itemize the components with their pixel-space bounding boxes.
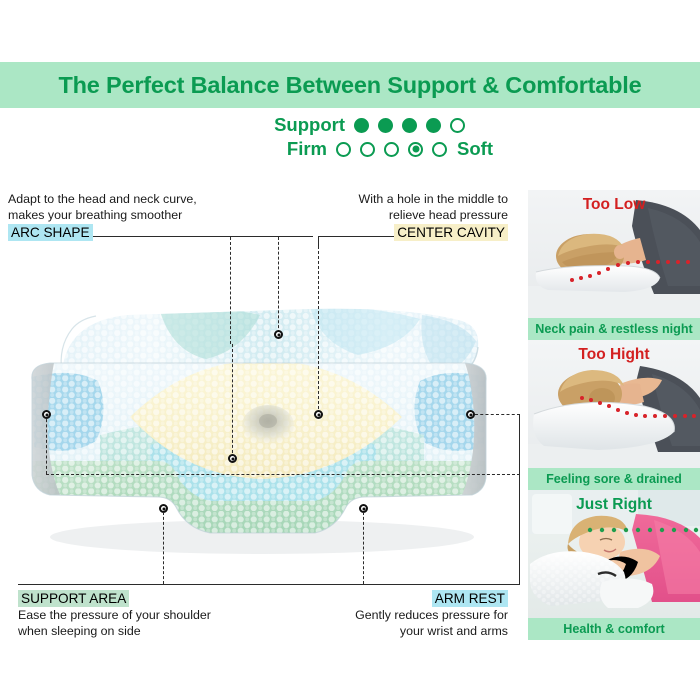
callout-dot-support-mid — [228, 454, 237, 463]
panel-heading-just-right: Just Right — [528, 496, 700, 514]
rating-dot — [450, 118, 465, 133]
rating-row-firmness: Firm Soft — [0, 137, 700, 161]
pillow-body — [20, 355, 510, 545]
annotation-arc-line1: Adapt to the head and neck curve, — [8, 192, 268, 208]
rating-dot — [378, 118, 393, 133]
annotation-arm-line1: Gently reduces pressure for — [318, 608, 508, 624]
leader-dash-arc-b — [278, 237, 279, 333]
leader-dash-footprint-left — [46, 414, 47, 474]
leader-dash-support-left — [163, 512, 164, 584]
annotation-support-tag: SUPPORT AREA — [18, 590, 129, 607]
leader-dash-cavity — [318, 246, 319, 414]
panel-caption-too-low: Neck pain & restless night — [528, 318, 700, 340]
leader-dash-armrest-h — [475, 414, 520, 415]
annotation-support-line1: Ease the pressure of your shoulder — [18, 608, 268, 624]
rating-dot — [354, 118, 369, 133]
rating-dot-selected — [408, 142, 423, 157]
annotation-arc-line2: makes your breathing smoother — [8, 208, 268, 224]
callout-dot-cavity — [314, 410, 323, 419]
rating-label-support: Support — [225, 114, 354, 136]
leader-dash-support-right — [363, 512, 364, 584]
leader-dash-support-top — [232, 344, 233, 458]
rating-row-support: Support — [0, 113, 700, 137]
rating-dots-firmness — [336, 142, 447, 157]
rating-label-soft: Soft — [447, 138, 493, 160]
leader-dash-footprint — [46, 474, 520, 475]
annotation-support-area: SUPPORT AREA Ease the pressure of your s… — [18, 590, 268, 640]
rating-dot — [402, 118, 417, 133]
callout-dot-arc — [274, 330, 283, 339]
rating-dots-support — [354, 118, 465, 133]
page-title: The Perfect Balance Between Support & Co… — [58, 72, 641, 99]
annotation-support-line2: when sleeping on side — [18, 624, 268, 640]
panel-caption-just-right: Health & comfort — [528, 618, 700, 640]
infographic-root: The Perfect Balance Between Support & Co… — [0, 0, 700, 700]
comparison-panel-too-high: Too Hight Feeling sore & drained — [528, 340, 700, 490]
annotation-cavity-line2: relieve head pressure — [318, 208, 508, 224]
annotation-cavity-line1: With a hole in the middle to — [318, 192, 508, 208]
panel-heading-too-high: Too Hight — [528, 346, 700, 364]
rating-dot — [426, 118, 441, 133]
rating-label-firm: Firm — [207, 138, 336, 160]
panel-heading-too-low: Too Low — [528, 196, 700, 214]
annotation-arm-line2: your wrist and arms — [318, 624, 508, 640]
callout-dot-armrest-left — [42, 410, 51, 419]
annotation-arm-rest: ARM REST Gently reduces pressure for you… — [318, 590, 508, 640]
annotation-arc-tag: ARC SHAPE — [8, 224, 93, 241]
panel-caption-too-high: Feeling sore & drained — [528, 468, 700, 490]
annotation-cavity-tag: CENTER CAVITY — [394, 224, 508, 241]
leader-dash-arc-a — [230, 237, 231, 344]
leader-rule-arc-ext — [263, 236, 313, 237]
header-band: The Perfect Balance Between Support & Co… — [0, 62, 700, 108]
rating-dot — [360, 142, 375, 157]
rating-dot — [432, 142, 447, 157]
product-image — [10, 285, 515, 560]
leader-rule-armrest-h — [330, 584, 520, 585]
comparison-panel-too-low: Too Low Neck pain & restless night — [528, 190, 700, 340]
comparison-panel-just-right: Just Right Health & comfort — [528, 490, 700, 640]
annotation-arm-tag: ARM REST — [432, 590, 508, 607]
leader-rule-armrest-v — [519, 414, 520, 584]
annotation-arc-shape: Adapt to the head and neck curve, makes … — [8, 192, 268, 242]
rating-group: Support Firm Soft — [0, 113, 700, 161]
rating-dot — [336, 142, 351, 157]
annotation-center-cavity: With a hole in the middle to relieve hea… — [318, 192, 508, 242]
leader-rule-support — [18, 584, 368, 585]
rating-dot — [384, 142, 399, 157]
callout-dot-armrest-right — [466, 410, 475, 419]
comparison-panel-group: Too Low Neck pain & restless night — [528, 190, 700, 640]
